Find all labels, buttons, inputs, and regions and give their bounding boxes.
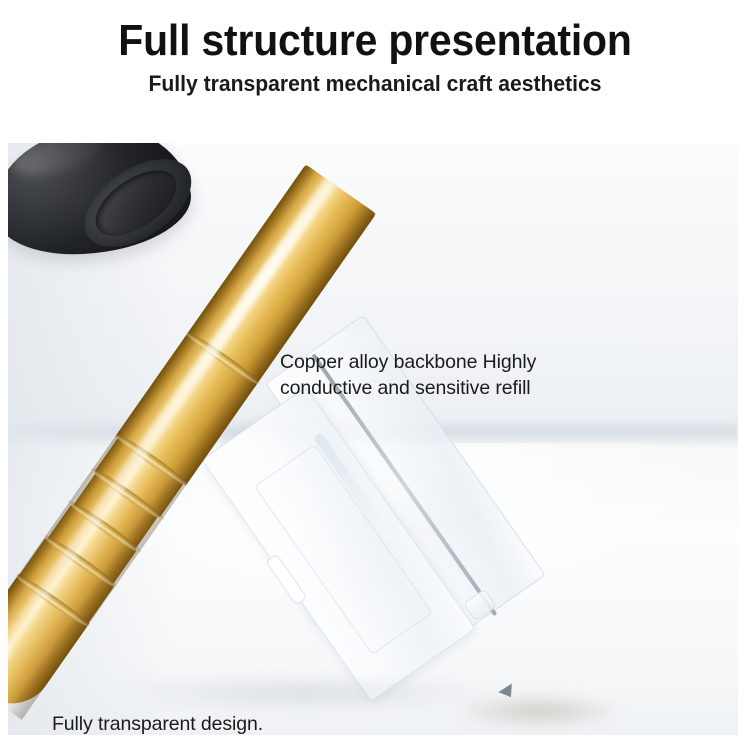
product-photo: Copper alloy backbone Highly conductive … (8, 143, 738, 735)
page-subtitle: Fully transparent mechanical craft aesth… (15, 70, 735, 98)
banner-header: Full structure presentation Fully transp… (0, 0, 750, 130)
page-title: Full structure presentation (26, 17, 724, 65)
product-feature-banner: Full structure presentation Fully transp… (0, 0, 750, 750)
callout-transparent-design: Fully transparent design. visible reassu… (52, 711, 382, 735)
black-cap-group (8, 143, 204, 259)
callout-copper-backbone: Copper alloy backbone Highly conductive … (280, 349, 680, 401)
